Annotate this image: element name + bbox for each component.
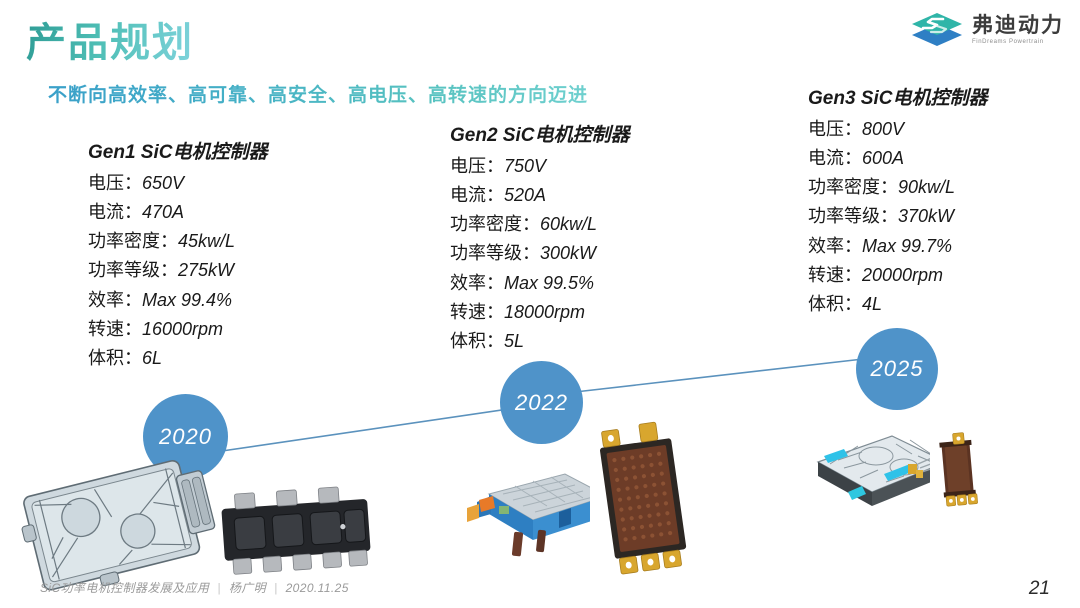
product-image-gen2-power-module-pinfin bbox=[590, 420, 705, 590]
spec-label: 功率密度 bbox=[808, 177, 880, 197]
page-title: 产品规划 bbox=[26, 10, 194, 68]
spec-label: 电流 bbox=[88, 202, 124, 222]
spec-value: 20000rpm bbox=[862, 265, 943, 285]
spec-row: 功率密度：60kw/L bbox=[450, 210, 629, 239]
spec-value: 18000rpm bbox=[504, 302, 585, 322]
footer-separator-2: | bbox=[274, 581, 278, 595]
spec-row: 电压：800V bbox=[808, 115, 987, 144]
spec-label: 体积 bbox=[450, 331, 486, 351]
spec-label: 效率 bbox=[450, 273, 486, 293]
spec-row: 功率等级：300kW bbox=[450, 239, 629, 268]
spec-row: 电流：600A bbox=[808, 144, 987, 173]
spec-label: 电压 bbox=[808, 119, 844, 139]
spec-row: 电压：650V bbox=[88, 169, 267, 198]
spec-value: Max 99.7% bbox=[862, 236, 952, 256]
spec-label: 体积 bbox=[88, 348, 124, 368]
spec-value: 4L bbox=[862, 294, 882, 314]
spec-row: 电流：520A bbox=[450, 181, 629, 210]
product-image-gen1-controller-housing bbox=[18, 450, 233, 600]
spec-label: 电流 bbox=[450, 185, 486, 205]
logo-name-cn: 弗迪动力 bbox=[972, 15, 1064, 37]
spec-value: Max 99.4% bbox=[142, 290, 232, 310]
spec-row: 转速：20000rpm bbox=[808, 261, 987, 290]
spec-label: 功率等级 bbox=[450, 243, 522, 263]
spec-value: 470A bbox=[142, 202, 184, 222]
spec-label: 功率密度 bbox=[450, 214, 522, 234]
timeline-marker-2022[interactable]: 2022 bbox=[500, 361, 583, 444]
spec-label: 转速 bbox=[450, 302, 486, 322]
spec-row: 体积：6L bbox=[88, 344, 267, 373]
spec-row: 效率：Max 99.7% bbox=[808, 232, 987, 261]
product-image-gen3-power-module bbox=[930, 425, 990, 520]
spec-heading-gen3: Gen3 SiC电机控制器 bbox=[808, 83, 987, 110]
spec-value: 6L bbox=[142, 348, 162, 368]
spec-row: 转速：16000rpm bbox=[88, 315, 267, 344]
spec-label: 转速 bbox=[88, 319, 124, 339]
spec-value: 650V bbox=[142, 173, 184, 193]
spec-value: 520A bbox=[504, 185, 546, 205]
spec-value: 800V bbox=[862, 119, 904, 139]
spec-value: 60kw/L bbox=[540, 214, 597, 234]
spec-row: 电流：470A bbox=[88, 198, 267, 227]
spec-value: 370kW bbox=[898, 206, 954, 226]
brand-logo: 弗迪动力 FinDreams Powertrain bbox=[910, 8, 1064, 52]
spec-label: 效率 bbox=[808, 236, 844, 256]
spec-label: 功率等级 bbox=[808, 206, 880, 226]
page-number: 21 bbox=[1029, 578, 1050, 600]
spec-value: 16000rpm bbox=[142, 319, 223, 339]
spec-row: 效率：Max 99.5% bbox=[450, 269, 629, 298]
footer-bar: SiC功率电机控制器发展及应用 | 杨广明 | 2020.11.25 bbox=[40, 579, 349, 596]
logo-mark-icon bbox=[910, 8, 964, 52]
spec-column-gen2: Gen2 SiC电机控制器 电压：750V 电流：520A 功率密度：60kw/… bbox=[450, 120, 629, 356]
spec-label: 功率等级 bbox=[88, 260, 160, 280]
footer-author: 杨广明 bbox=[229, 579, 266, 596]
spec-row: 功率等级：275kW bbox=[88, 256, 267, 285]
spec-value: Max 99.5% bbox=[504, 273, 594, 293]
spec-row: 体积：4L bbox=[808, 290, 987, 319]
footer-date: 2020.11.25 bbox=[286, 581, 349, 595]
spec-column-gen1: Gen1 SiC电机控制器 电压：650V 电流：470A 功率密度：45kw/… bbox=[88, 137, 267, 373]
spec-heading-gen2: Gen2 SiC电机控制器 bbox=[450, 120, 629, 147]
spec-label: 电压 bbox=[88, 173, 124, 193]
spec-value: 750V bbox=[504, 156, 546, 176]
spec-column-gen3: Gen3 SiC电机控制器 电压：800V 电流：600A 功率密度：90kw/… bbox=[808, 83, 987, 319]
spec-label: 体积 bbox=[808, 294, 844, 314]
spec-label: 电压 bbox=[450, 156, 486, 176]
spec-label: 转速 bbox=[808, 265, 844, 285]
footer-separator-1: | bbox=[217, 581, 221, 595]
footer-doc-title: SiC功率电机控制器发展及应用 bbox=[40, 579, 209, 596]
logo-name-en: FinDreams Powertrain bbox=[972, 39, 1064, 45]
spec-value: 45kw/L bbox=[178, 231, 235, 251]
spec-row: 功率等级：370kW bbox=[808, 202, 987, 231]
spec-value: 600A bbox=[862, 148, 904, 168]
timeline-marker-2025[interactable]: 2025 bbox=[856, 328, 938, 410]
spec-label: 功率密度 bbox=[88, 231, 160, 251]
spec-row: 功率密度：45kw/L bbox=[88, 227, 267, 256]
spec-value: 90kw/L bbox=[898, 177, 955, 197]
spec-row: 转速：18000rpm bbox=[450, 298, 629, 327]
spec-label: 效率 bbox=[88, 290, 124, 310]
spec-value: 5L bbox=[504, 331, 524, 351]
page-subtitle: 不断向高效率、高可靠、高安全、高电压、高转速的方向迈进 bbox=[48, 80, 588, 107]
product-image-gen1-power-module bbox=[215, 478, 375, 583]
spec-value: 300kW bbox=[540, 243, 596, 263]
spec-row: 电压：750V bbox=[450, 152, 629, 181]
spec-heading-gen1: Gen1 SiC电机控制器 bbox=[88, 137, 267, 164]
spec-row: 功率密度：90kw/L bbox=[808, 173, 987, 202]
spec-label: 电流 bbox=[808, 148, 844, 168]
spec-row: 体积：5L bbox=[450, 327, 629, 356]
spec-value: 275kW bbox=[178, 260, 234, 280]
spec-row: 效率：Max 99.4% bbox=[88, 286, 267, 315]
